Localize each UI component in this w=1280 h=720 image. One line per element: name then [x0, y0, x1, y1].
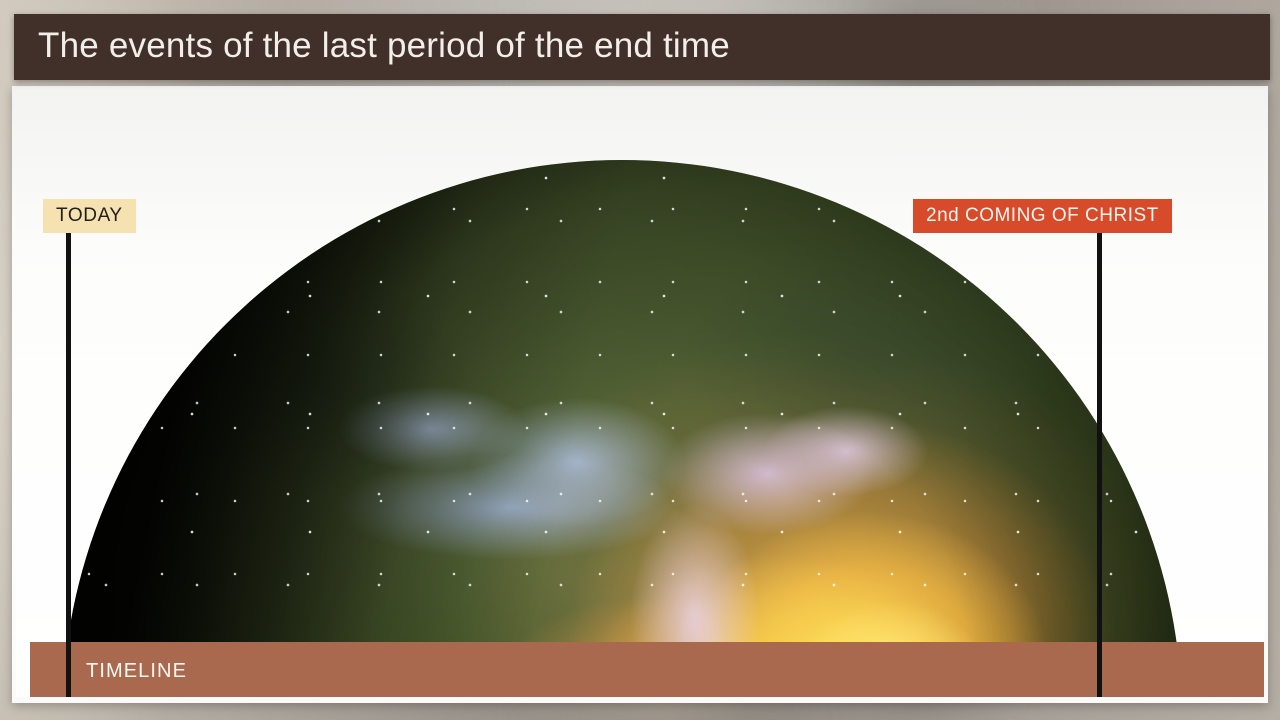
marker-line-today	[66, 233, 71, 697]
slide-card: TIMELINE TODAY 2nd COMING OF CHRIST	[12, 86, 1268, 703]
slide-inner-plate: TIMELINE TODAY 2nd COMING OF CHRIST	[16, 90, 1264, 697]
timeline-label: TIMELINE	[86, 660, 187, 683]
globe-illustration	[16, 90, 1264, 697]
timeline-bar: TIMELINE	[30, 642, 1264, 697]
earth-globe-icon	[62, 160, 1182, 697]
slide-stage: The events of the last period of the end…	[0, 0, 1280, 720]
marker-label-today: TODAY	[43, 199, 136, 233]
marker-label-second-coming: 2nd COMING OF CHRIST	[913, 199, 1172, 233]
globe-terminator-shadow	[62, 160, 1182, 697]
marker-line-second-coming	[1097, 233, 1102, 697]
globe-fire-overlay	[62, 160, 1182, 697]
globe-right-limb	[62, 160, 1182, 697]
globe-speckle-field	[62, 160, 1182, 697]
globe-rim-highlight	[62, 160, 1182, 697]
title-bar: The events of the last period of the end…	[14, 14, 1270, 80]
page-title: The events of the last period of the end…	[38, 26, 730, 66]
